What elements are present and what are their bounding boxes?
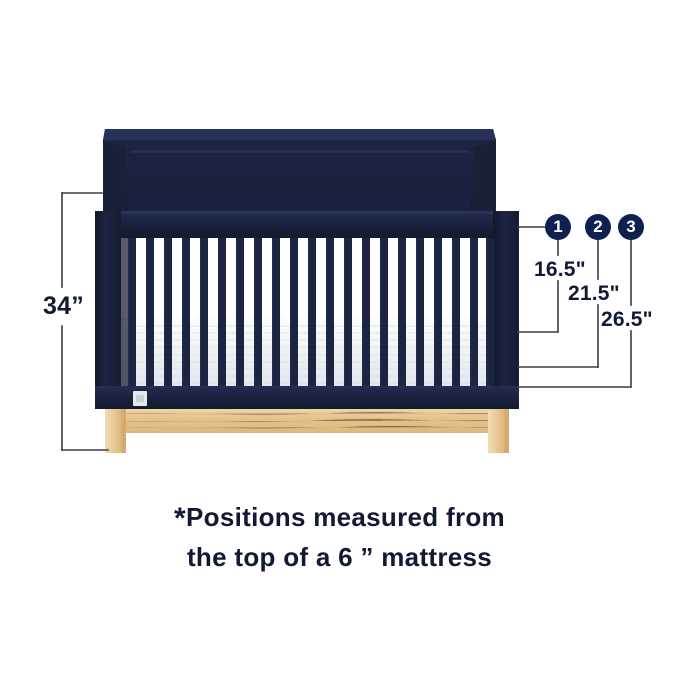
height-dimension-line [62, 193, 108, 450]
footnote-line-1-text: Positions measured from [186, 502, 505, 532]
footnote-line-2: the top of a 6 ” mattress [0, 538, 679, 576]
height-dimension-label: 34” [43, 292, 84, 321]
position-marker-3-number: 3 [618, 214, 644, 240]
position-marker-1-number: 1 [545, 214, 571, 240]
position-2-label: 21.5" [568, 282, 620, 306]
footnote-line-1: *Positions measured from [0, 498, 679, 538]
diagram-canvas: 34” 16.5" 21.5" 26.5" 1 2 3 *Positions m… [0, 0, 679, 679]
position-1-label: 16.5" [534, 258, 586, 282]
footnote: *Positions measured from the top of a 6 … [0, 498, 679, 576]
asterisk-glyph: * [174, 502, 186, 535]
position-marker-2-number: 2 [585, 214, 611, 240]
dimension-lines [0, 0, 679, 679]
position-3-label: 26.5" [601, 308, 653, 332]
